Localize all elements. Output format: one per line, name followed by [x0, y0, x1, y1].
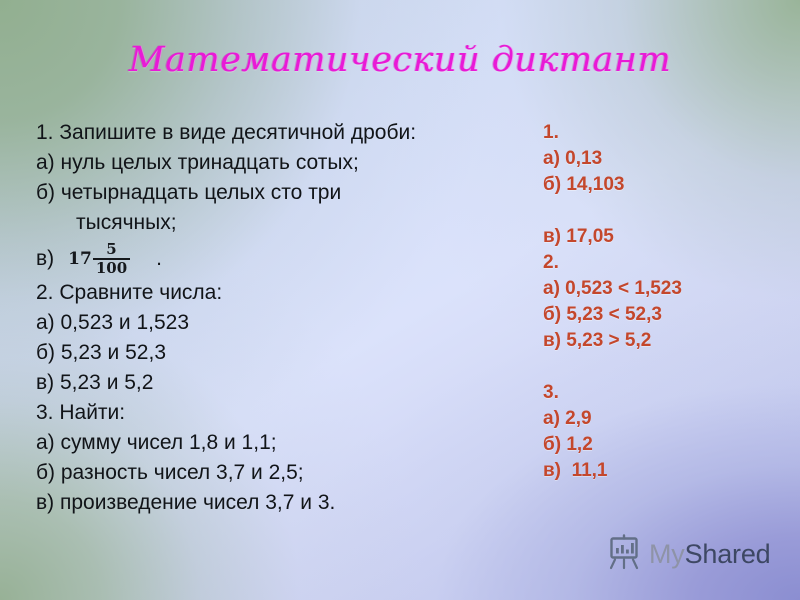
answer-line: а) 0,523 < 1,523 [543, 276, 793, 302]
answer-line: в) 11,1 [543, 458, 793, 484]
fraction: 5 100 [93, 242, 130, 276]
answer-line: 2. [543, 250, 793, 276]
question-line: 3. Найти: [36, 398, 516, 428]
answer-line: 1. [543, 120, 793, 146]
fraction-whole-part: 17 [68, 251, 93, 268]
mixed-number: 17 5 100 [68, 242, 130, 276]
question-line: б) четырнадцать целых сто три [36, 178, 516, 208]
watermark-brand-second: Shared [685, 539, 771, 569]
watermark-brand-first: My [649, 539, 685, 569]
question-line: тысячных; [36, 208, 516, 238]
answer-line: 3. [543, 380, 793, 406]
slide-canvas: Математический диктант 1. Запишите в вид… [0, 0, 800, 600]
answer-spacer [543, 354, 793, 380]
fraction-numerator: 5 [101, 242, 121, 258]
answer-line: в) 5,23 > 5,2 [543, 328, 793, 354]
flipchart-chart-icon [608, 534, 642, 575]
question-line: а) сумму чисел 1,8 и 1,1; [36, 428, 516, 458]
fraction-trailing-punctuation: . [156, 244, 162, 274]
question-line: 2. Сравните числа: [36, 278, 516, 308]
question-line: а) нуль целых тринадцать сотых; [36, 148, 516, 178]
answers-column: 1. а) 0,13 б) 14,103 в) 17,05 2. а) 0,52… [543, 120, 793, 484]
myshared-watermark: MyShared [608, 534, 770, 575]
answer-line: а) 0,13 [543, 146, 793, 172]
question-line-fraction: в) 17 5 100 . [36, 237, 516, 281]
answer-line: б) 1,2 [543, 432, 793, 458]
answer-line: б) 5,23 < 52,3 [543, 302, 793, 328]
questions-column: 1. Запишите в виде десятичной дроби: а) … [36, 118, 516, 518]
question-line: в) 5,23 и 5,2 [36, 368, 516, 398]
question-line: б) 5,23 и 52,3 [36, 338, 516, 368]
answer-spacer [543, 198, 793, 224]
answer-line: б) 14,103 [543, 172, 793, 198]
question-line: 1. Запишите в виде десятичной дроби: [36, 118, 516, 148]
fraction-denominator: 100 [93, 260, 130, 276]
question-line: б) разность чисел 3,7 и 2,5; [36, 458, 516, 488]
answer-line: в) 17,05 [543, 224, 793, 250]
page-title: Математический диктант [0, 40, 800, 80]
fraction-item-label: в) [36, 244, 54, 274]
question-line: в) произведение чисел 3,7 и 3. [36, 488, 516, 518]
answer-line: а) 2,9 [543, 406, 793, 432]
question-line: а) 0,523 и 1,523 [36, 308, 516, 338]
